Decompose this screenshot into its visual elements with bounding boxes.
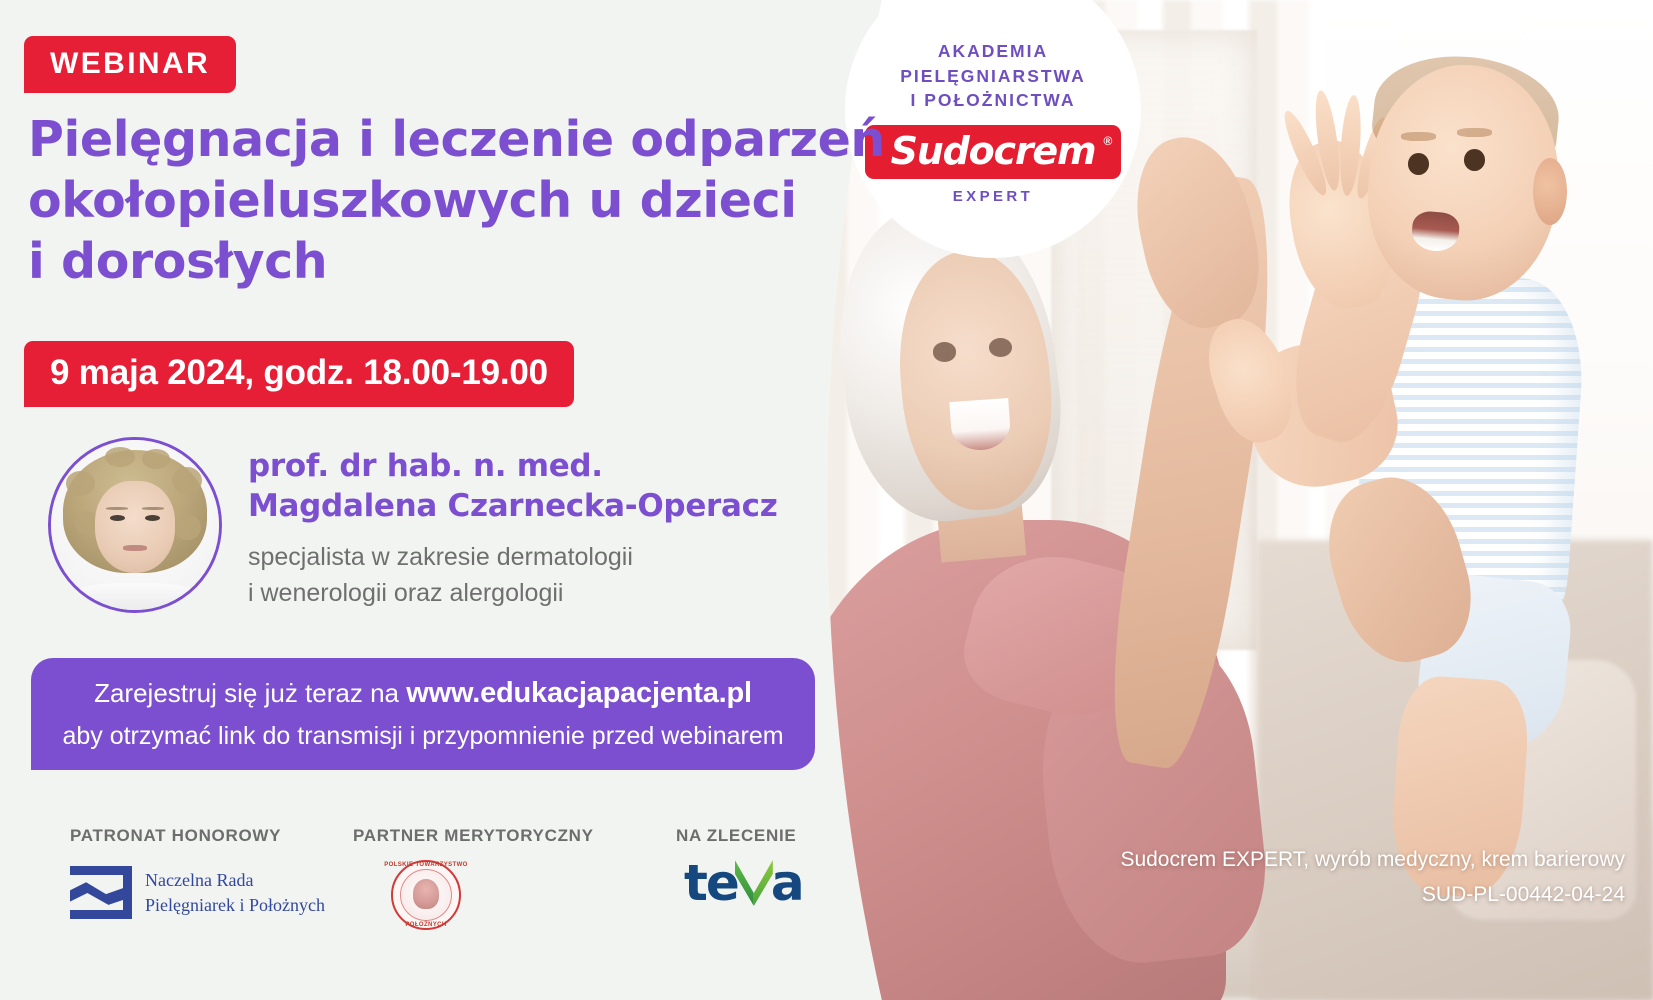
hair-curl — [142, 449, 171, 469]
grandmother-eye-right — [989, 338, 1012, 357]
nrpip-wordmark: Naczelna Rada Pielęgniarek i Położnych — [145, 868, 325, 918]
baby-eyebrow-right — [1457, 128, 1491, 136]
cta-prefix: Zarejestruj się już teraz na — [94, 678, 406, 708]
speaker-eyebrow-right — [142, 507, 164, 510]
nrpip-line-2: Pielęgniarek i Położnych — [145, 893, 325, 918]
speaker-eye-left — [110, 515, 125, 521]
seal-text-bottom: POŁOŻNYCH — [405, 922, 446, 928]
zlecenie-label: NA ZLECENIE — [676, 826, 803, 846]
speaker-eye-right — [145, 515, 160, 521]
speaker-subtitle-line-1: specjalista w zakresie dermatologii — [248, 540, 848, 576]
cta-line-2: aby otrzymać link do transmisji i przypo… — [62, 719, 783, 755]
speaker-title-line-2: Magdalena Czarnecka-Operacz — [248, 487, 828, 527]
headline-line-3: i dorosłych — [28, 232, 828, 293]
sudocrem-tier-label: EXPERT — [953, 188, 1033, 205]
seal-text: POLSKIE TOWARZYSTWO POŁOŻNYCH — [391, 860, 461, 930]
nrpip-bar-bottom — [70, 910, 132, 919]
nrpip-mark-icon — [70, 866, 132, 919]
academy-line-1: AKADEMIA — [900, 39, 1086, 64]
speaker-eyebrow-left — [106, 507, 128, 510]
teva-wordmark-right: a — [771, 861, 803, 906]
registration-cta[interactable]: Zarejestruj się już teraz na www.edukacj… — [31, 658, 815, 770]
patronat-label: PATRONAT HONOROWY — [70, 826, 325, 846]
academy-line-3: I POŁOŻNICTWA — [900, 88, 1086, 113]
baby-eyebrow-left — [1401, 132, 1435, 140]
page-title: Pielęgnacja i leczenie odparzeń okołopie… — [28, 110, 828, 292]
product-disclaimer: Sudocrem EXPERT, wyrób medyczny, krem ba… — [1025, 843, 1625, 912]
speaker-mouth — [123, 545, 147, 550]
headline-line-2: okołopieluszkowych u dzieci — [28, 171, 828, 232]
speaker-face — [95, 481, 176, 573]
hair-curl — [174, 515, 201, 541]
speaker-specialty: specjalista w zakresie dermatologii i we… — [248, 540, 848, 611]
academy-name: AKADEMIA PIELĘGNIARSTWA I POŁOŻNICTWA — [900, 39, 1086, 114]
teva-logo: te a — [684, 860, 803, 906]
speaker-name: prof. dr hab. n. med. Magdalena Czarneck… — [248, 447, 828, 526]
baby-ear — [1533, 158, 1567, 225]
event-date-badge: 9 maja 2024, godz. 18.00-19.00 — [24, 341, 574, 407]
disclaimer-code: SUD-PL-00442-04-24 — [1025, 878, 1625, 913]
grandmother-eye-left — [933, 342, 956, 361]
partner-label: PARTNER MERYTORYCZNY — [353, 826, 594, 846]
headline-line-1: Pielęgnacja i leczenie odparzeń — [28, 110, 828, 171]
content-column: WEBINAR Pielęgnacja i leczenie odparzeń … — [0, 0, 860, 1000]
hair-curl — [66, 471, 95, 497]
registered-trademark-icon: ® — [1104, 134, 1113, 148]
speaker-avatar — [48, 437, 222, 613]
seal-text-top: POLSKIE TOWARZYSTWO — [384, 862, 468, 868]
baby-figure — [1206, 40, 1636, 880]
sudocrem-wordmark: Sudocrem — [891, 129, 1096, 173]
hair-curl — [105, 447, 135, 467]
teva-leaf-v-icon — [734, 860, 774, 906]
footer-column-patronat: PATRONAT HONOROWY Naczelna Rada Pielęgni… — [70, 826, 325, 919]
nrpip-line-1: Naczelna Rada — [145, 868, 325, 893]
cta-line-1: Zarejestruj się już teraz na www.edukacj… — [94, 673, 752, 714]
footer-column-partner: PARTNER MERYTORYCZNY POLSKIE TOWARZYSTWO… — [353, 826, 594, 930]
naczelna-rada-logo: Naczelna Rada Pielęgniarek i Położnych — [70, 866, 325, 919]
webinar-tag: WEBINAR — [24, 36, 236, 93]
speaker-title-line-1: prof. dr hab. n. med. — [248, 447, 828, 487]
registration-url[interactable]: www.edukacjapacjenta.pl — [406, 677, 752, 709]
speaker-subtitle-line-2: i wenerologii oraz alergologii — [248, 576, 848, 612]
sudocrem-logo: Sudocrem ® — [865, 125, 1122, 179]
speaker-shoulders — [71, 583, 199, 610]
teva-wordmark-left: te — [684, 861, 738, 906]
footer-column-zlecenie: NA ZLECENIE te a — [676, 826, 803, 906]
disclaimer-product: Sudocrem EXPERT, wyrób medyczny, krem ba… — [1025, 843, 1625, 878]
webinar-banner: AKADEMIA PIELĘGNIARSTWA I POŁOŻNICTWA Su… — [0, 0, 1653, 1000]
academy-line-2: PIELĘGNIARSTWA — [900, 64, 1086, 89]
partner-logos-footer: PATRONAT HONOROWY Naczelna Rada Pielęgni… — [0, 826, 860, 1000]
polskie-towarzystwo-poloznych-seal: POLSKIE TOWARZYSTWO POŁOŻNYCH — [391, 860, 461, 930]
